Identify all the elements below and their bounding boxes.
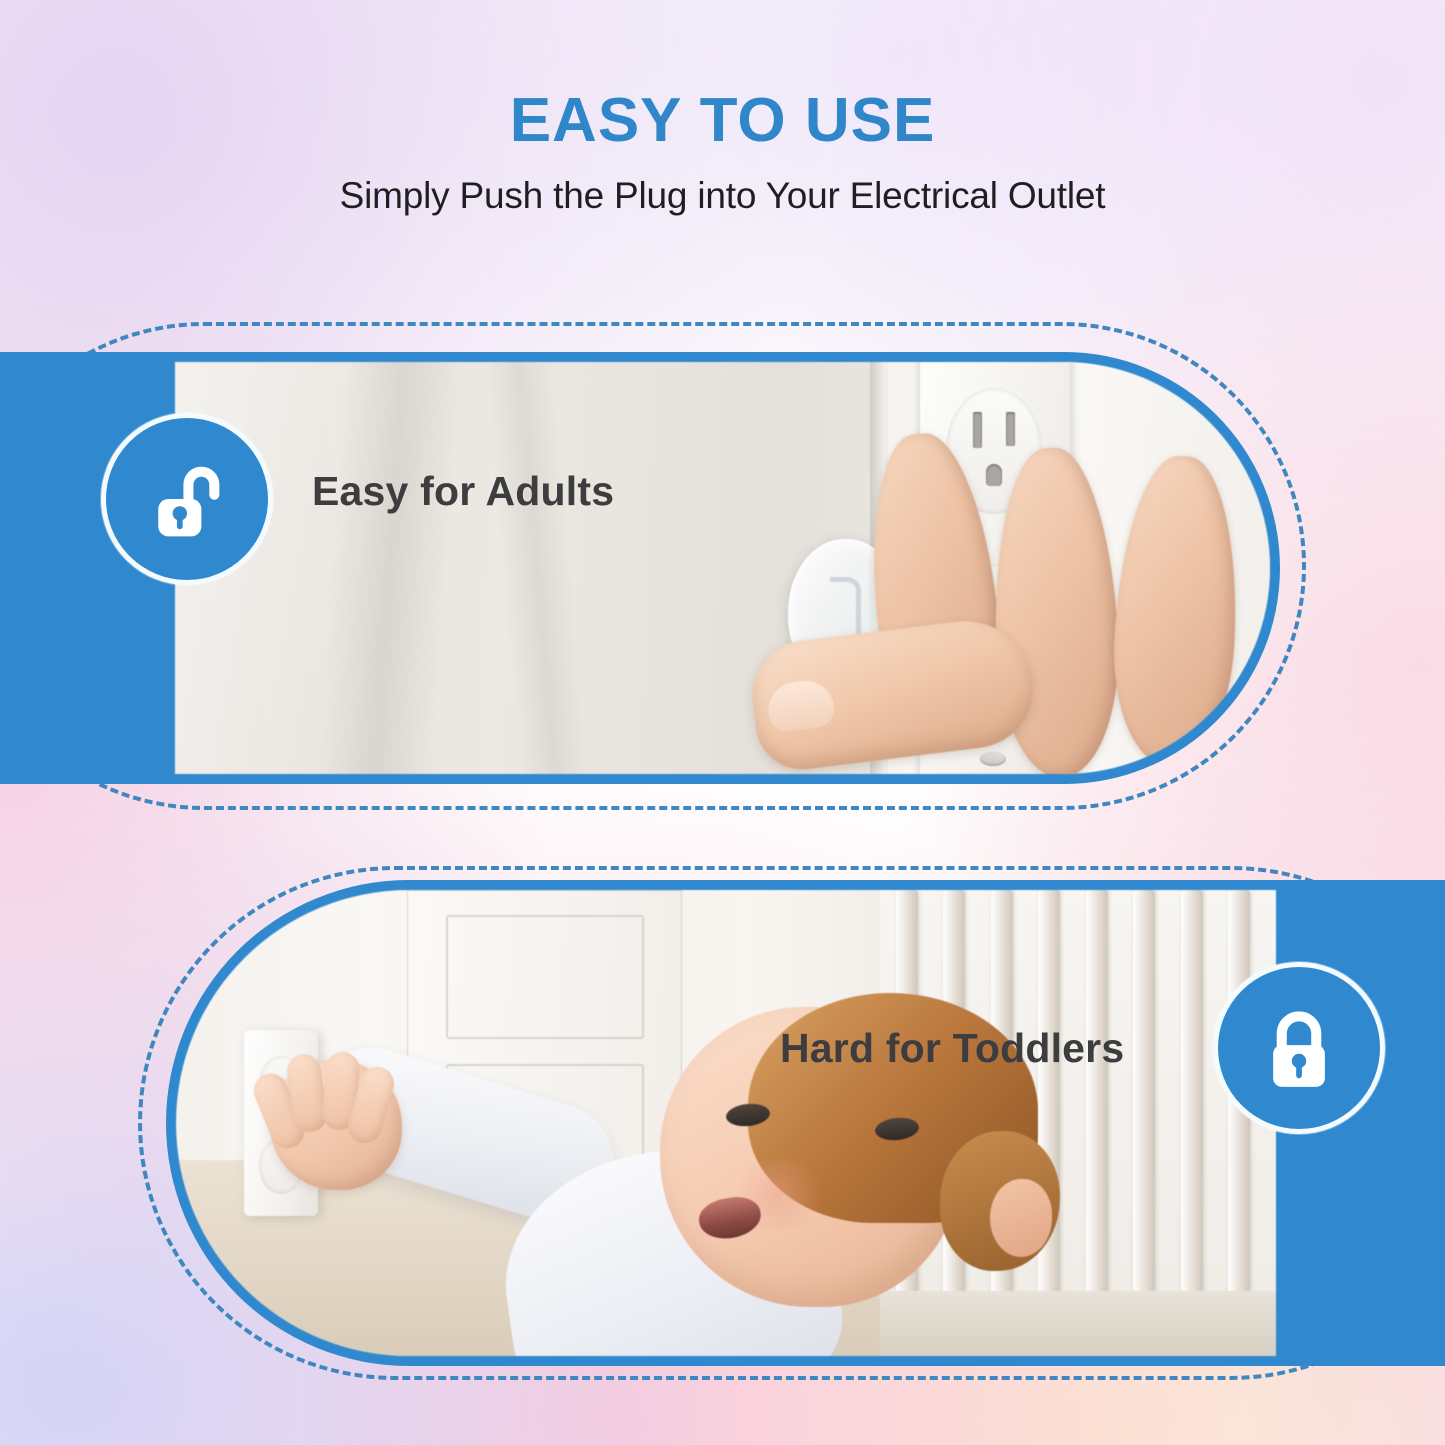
crib-rail: [1181, 890, 1203, 1300]
panel-blue-frame: [166, 880, 1445, 1366]
page-subtitle: Simply Push the Plug into Your Electrica…: [0, 175, 1445, 217]
toddler-photo: [176, 890, 1276, 1356]
toddler-ear: [990, 1179, 1052, 1257]
crib-base: [880, 1291, 1276, 1356]
door-panel: [446, 915, 644, 1039]
crib-rail: [1086, 890, 1108, 1300]
lock-icon: [1253, 1002, 1345, 1094]
unlock-icon: [141, 453, 233, 545]
panel-caption-hard-for-toddlers: Hard for Toddlers: [780, 1025, 1124, 1072]
toddler-hand: [270, 1060, 402, 1190]
lock-icon-badge: [1213, 962, 1385, 1134]
adult-hand: [854, 395, 1270, 774]
crib-rail: [1133, 890, 1155, 1300]
header: EASY TO USE Simply Push the Plug into Yo…: [0, 0, 1445, 217]
page-title: EASY TO USE: [0, 88, 1445, 153]
panel-caption-easy-for-adults: Easy for Adults: [312, 468, 614, 515]
thumb-nail: [765, 677, 836, 733]
outlet-photo: [175, 362, 1270, 774]
unlock-icon-badge: [101, 413, 273, 585]
hand-finger: [1108, 453, 1244, 769]
